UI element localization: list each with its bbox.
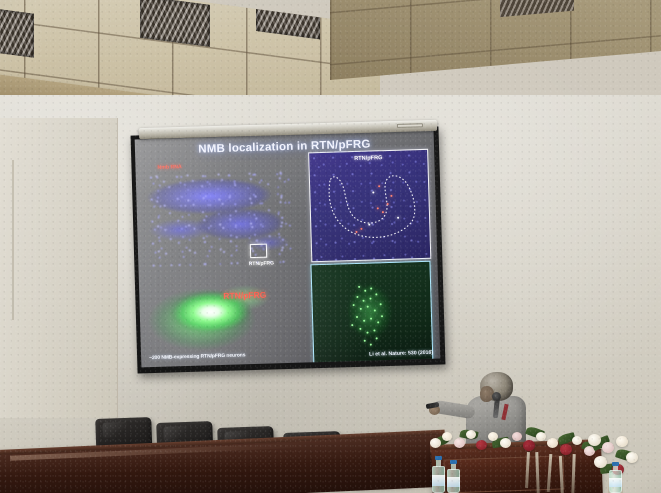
ceiling-tiles-right	[330, 0, 661, 80]
sagittal-brain-section	[146, 167, 299, 267]
bottle-label	[447, 477, 460, 487]
ceiling-light-fixture	[0, 5, 34, 58]
bottle-label	[609, 478, 622, 487]
projection-screen: NMB localization in RTN/pFRG Nmb RNA RTN…	[131, 126, 446, 373]
left-wall-panel	[0, 118, 118, 418]
floral-arrangement-right	[586, 420, 658, 492]
green-puncta-group	[311, 262, 432, 363]
photo-scene: NMB localization in RTN/pFRG Nmb RNA RTN…	[0, 0, 661, 493]
bottle-cap	[450, 460, 457, 464]
slide-panel-top-right: RTN/pFRG	[308, 149, 431, 263]
slide-surface: NMB localization in RTN/pFRG Nmb RNA RTN…	[135, 131, 441, 368]
screen-roller-bracket	[397, 123, 423, 128]
bottle-label	[432, 475, 445, 486]
water-bottle	[447, 460, 460, 493]
slide-panel-bottom-left: RTN/pFRG ~200 NMB-expressing RTN/pFRG ne…	[139, 266, 310, 367]
slide-panel-top-left: Nmb RNA RTN/pFRG	[141, 157, 304, 274]
rtn-pfrg-label-green: RTN/pFRG	[223, 290, 266, 301]
ish-speckle-pattern	[146, 167, 299, 267]
microphone-head-icon	[492, 392, 501, 401]
wall-seam	[12, 160, 14, 320]
water-bottle	[609, 462, 622, 493]
water-bottle	[432, 456, 445, 493]
slide-panel-bottom-right	[310, 261, 433, 365]
roi-box-icon	[250, 244, 267, 258]
fluorescent-puncta-group	[309, 150, 430, 261]
green-fluorescence-blob	[143, 269, 298, 365]
ceiling-tile-grid	[330, 0, 661, 80]
bottle-cap	[612, 462, 619, 466]
bottle-cap	[435, 456, 442, 460]
nmb-rna-label: Nmb RNA	[157, 164, 181, 171]
